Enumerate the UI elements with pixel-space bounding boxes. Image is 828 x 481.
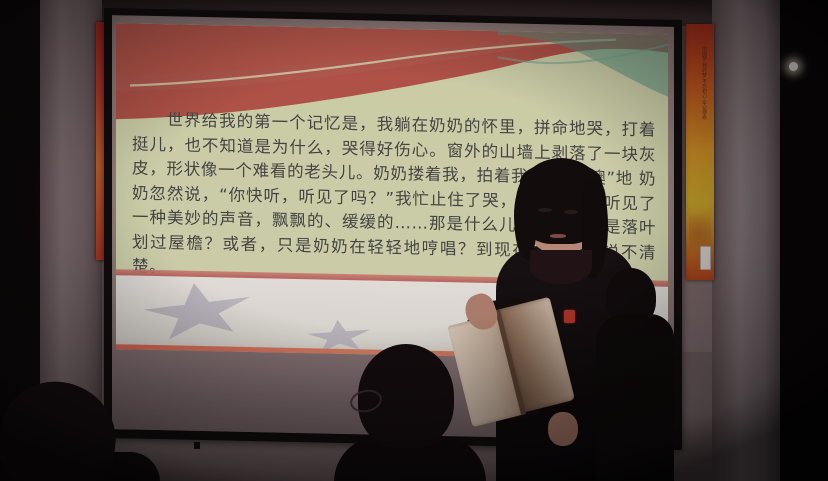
presenter-hair-left bbox=[514, 186, 536, 260]
light-switch[interactable] bbox=[700, 246, 711, 270]
audience-member-right bbox=[600, 268, 674, 481]
presenter-eye-right bbox=[564, 210, 578, 214]
presenter-mouth bbox=[550, 234, 566, 238]
classroom-scene: ☭ 中国梦 我的梦 不忘初心 牢记使命 世界给我的第一 bbox=[0, 0, 828, 481]
presenter-badge bbox=[564, 310, 575, 323]
audience-left-head bbox=[0, 374, 123, 481]
presenter-eye-left bbox=[538, 208, 552, 212]
vertical-banner: 中国梦 我的梦 不忘初心 牢记使命 bbox=[686, 24, 714, 280]
presenter-hand-right bbox=[548, 412, 578, 446]
presenter-collar bbox=[530, 250, 592, 284]
slide-teal-accent-graphic bbox=[498, 31, 668, 115]
ceiling-spotlight-icon bbox=[789, 62, 798, 71]
audience-member-left bbox=[0, 382, 150, 481]
banner-text: 中国梦 我的梦 不忘初心 牢记使命 bbox=[691, 46, 709, 120]
right-pillar bbox=[712, 0, 782, 481]
audience-member-center bbox=[340, 344, 472, 481]
audience-right-body bbox=[596, 314, 674, 481]
right-dark-area bbox=[780, 0, 828, 481]
screen-hook bbox=[194, 442, 200, 449]
